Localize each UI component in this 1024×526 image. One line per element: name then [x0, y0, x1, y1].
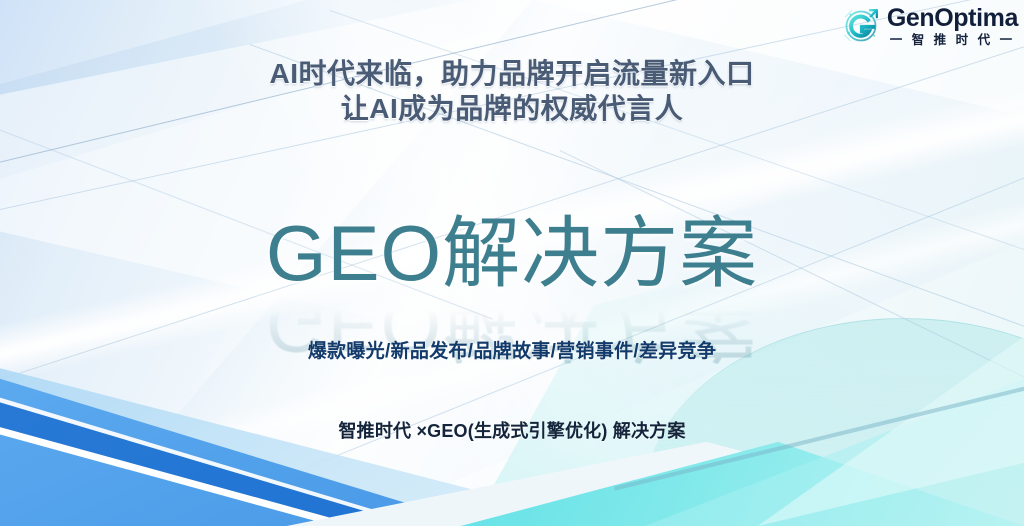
- headline-line-2: 让AI成为品牌的权威代言人: [0, 91, 1024, 126]
- footnote: 智推时代 ×GEO(生成式引擎优化) 解决方案: [0, 417, 1024, 443]
- brand-logo[interactable]: GenOptima 一 智 推 时 代 一: [839, 4, 1018, 48]
- presentation-slide: GenOptima 一 智 推 时 代 一 AI时代来临，助力品牌开启流量新入口…: [0, 0, 1024, 526]
- tagline: 爆款曝光/新品发布/品牌故事/营销事件/差异竞争: [0, 336, 1024, 363]
- logo-wordmark: GenOptima: [887, 6, 1018, 31]
- logo-subtitle: 一 智 推 时 代 一: [890, 34, 1015, 47]
- headline: AI时代来临，助力品牌开启流量新入口 让AI成为品牌的权威代言人: [0, 56, 1024, 127]
- circular-arrow-g-icon: [839, 4, 883, 48]
- page-title: GEO解决方案: [0, 214, 1024, 292]
- headline-line-1: AI时代来临，助力品牌开启流量新入口: [0, 56, 1024, 91]
- logo-text-block: GenOptima 一 智 推 时 代 一: [887, 6, 1018, 47]
